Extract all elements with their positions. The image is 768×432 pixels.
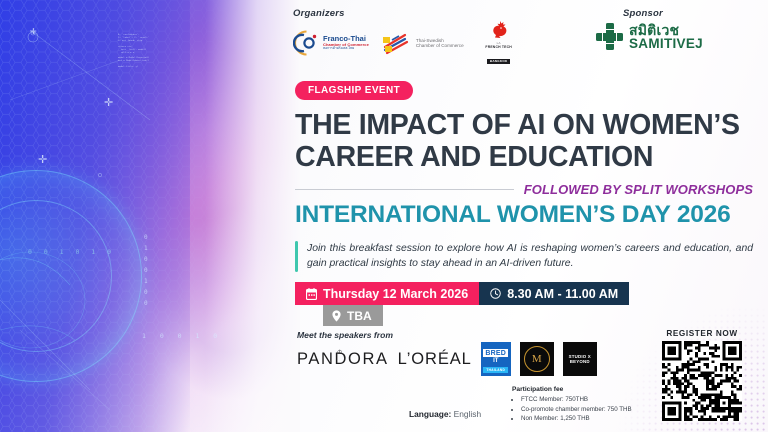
description-text: Join this breakfast session to explore h… [307,241,753,272]
samitivej-thai-name: สมิติเวช [629,23,703,37]
logo-pandora: ♔ PANDORA [297,350,389,369]
ftcc-line3: หอการค้าฝรั่งเศส-ไทย [323,47,369,50]
description-accent-bar [295,241,298,272]
language-line: Language: English [409,409,481,419]
calendar-icon [306,288,317,300]
bred-line2: IT [493,358,498,364]
organizer-logos: Franco-Thai Chamber of Commerce หอการค้า… [293,23,623,63]
plus-sparkle-icon: ✛ [104,98,113,109]
m-monogram: M [524,346,550,372]
tscc-line2: Chamber of Commerce [416,43,464,48]
sponsor-label: Sponsor [596,8,746,19]
event-meta-row: Thursday 12 March 2026 8.30 AM - 11.00 A… [295,282,753,305]
followed-by-label: FOLLOWED BY SPLIT WORKSHOPS [524,182,753,197]
studiox-line2: BEYOND [570,359,590,364]
code-overlay-text: 0: 'confidence', 1: 'label', 2: 'result'… [118,34,180,69]
rooster-icon [478,19,520,41]
description-block: Join this breakfast session to explore h… [295,241,753,272]
title-line-1: THE IMPACT OF AI ON WOMEN’S [295,109,740,141]
location-row: TBA [323,305,753,326]
register-section: REGISTER NOW [654,329,750,426]
pandora-crown-icon: ♔ [337,349,344,356]
time-badge: 8.30 AM - 11.00 AM [479,282,629,305]
logo-thai-swedish-chamber: Thai-Swedish Chamber of Commerce [383,31,464,55]
ftcc-emblem-icon [293,30,320,56]
hero-fade-edge [205,0,300,432]
language-label: Language: [409,409,451,419]
hero-image: 0: 'confidence', 1: 'label', 2: 'result'… [0,0,300,432]
logo-samitivej: สมิติเวช SAMITIVEJ [596,23,746,51]
organizers-label: Organizers [293,8,623,19]
register-now-label: REGISTER NOW [654,329,750,338]
tscc-wordmark: Thai-Swedish Chamber of Commerce [416,38,464,49]
logo-m-brand: M [520,342,554,376]
bred-line1: BRED [483,349,508,357]
date-badge: Thursday 12 March 2026 [295,282,479,305]
tscc-emblem-icon [383,31,413,55]
sponsor-section: Sponsor สมิติเวช SAMITIVEJ [596,8,746,51]
plus-sparkle-icon-3: ✛ [30,28,37,36]
qr-code[interactable] [662,341,742,421]
speakers-section: Meet the speakers from ♔ PANDORA L’ORÉAL… [297,330,627,376]
plus-sparkle-icon-2: ✛ [38,155,47,166]
event-poster: 0: 'confidence', 1: 'label', 2: 'result'… [0,0,768,432]
language-value: English [454,409,481,419]
location-text: TBA [347,309,372,323]
samitivej-english-name: SAMITIVEJ [629,37,703,51]
bred-line3: THAILAND [483,367,508,373]
logo-la-french-tech: LA FRENCH TECH BANGKOK [478,19,520,67]
binary-digits-vertical: 0 1 0 0 1 0 0 [144,232,149,309]
speakers-kicker: Meet the speakers from [297,330,627,340]
divider-rule [295,189,514,190]
samitivej-wordmark: สมิติเวช SAMITIVEJ [629,23,703,51]
frenchtech-line2: FRENCH TECH [478,45,520,49]
followed-by-row: FOLLOWED BY SPLIT WORKSHOPS [295,182,753,197]
logo-loreal: L’ORÉAL [398,350,472,369]
ftcc-wordmark: Franco-Thai Chamber of Commerce หอการค้า… [323,35,369,51]
location-badge: TBA [323,305,383,326]
frenchtech-city-badge: BANGKOK [487,59,511,64]
speaker-logos: ♔ PANDORA L’ORÉAL BRED IT THAILAND M STU… [297,342,627,376]
date-text: Thursday 12 March 2026 [323,287,468,301]
time-text: 8.30 AM - 11.00 AM [507,287,618,301]
organizers-section: Organizers Franco-Thai Chamber of Commer… [293,8,623,63]
main-content: FLAGSHIP EVENT THE IMPACT OF AI ON WOMEN… [295,80,753,326]
title-line-2: CAREER AND EDUCATION [295,141,653,173]
binary-digits-horizontal-2: 0 0 1 0 1 0 [28,248,115,256]
flagship-event-badge: FLAGSHIP EVENT [295,81,413,100]
international-womens-day-title: INTERNATIONAL WOMEN’S DAY 2026 [295,201,753,228]
logo-studio-x-beyond: STUDIO X BEYOND [563,342,597,376]
map-pin-icon [332,310,341,322]
logo-franco-thai-chamber: Franco-Thai Chamber of Commerce หอการค้า… [293,30,369,56]
logo-bred-it-thailand: BRED IT THAILAND [481,342,511,376]
green-cross-icon [596,23,623,50]
page-title: THE IMPACT OF AI ON WOMEN’S CAREER AND E… [295,109,753,173]
clock-icon [490,288,501,299]
